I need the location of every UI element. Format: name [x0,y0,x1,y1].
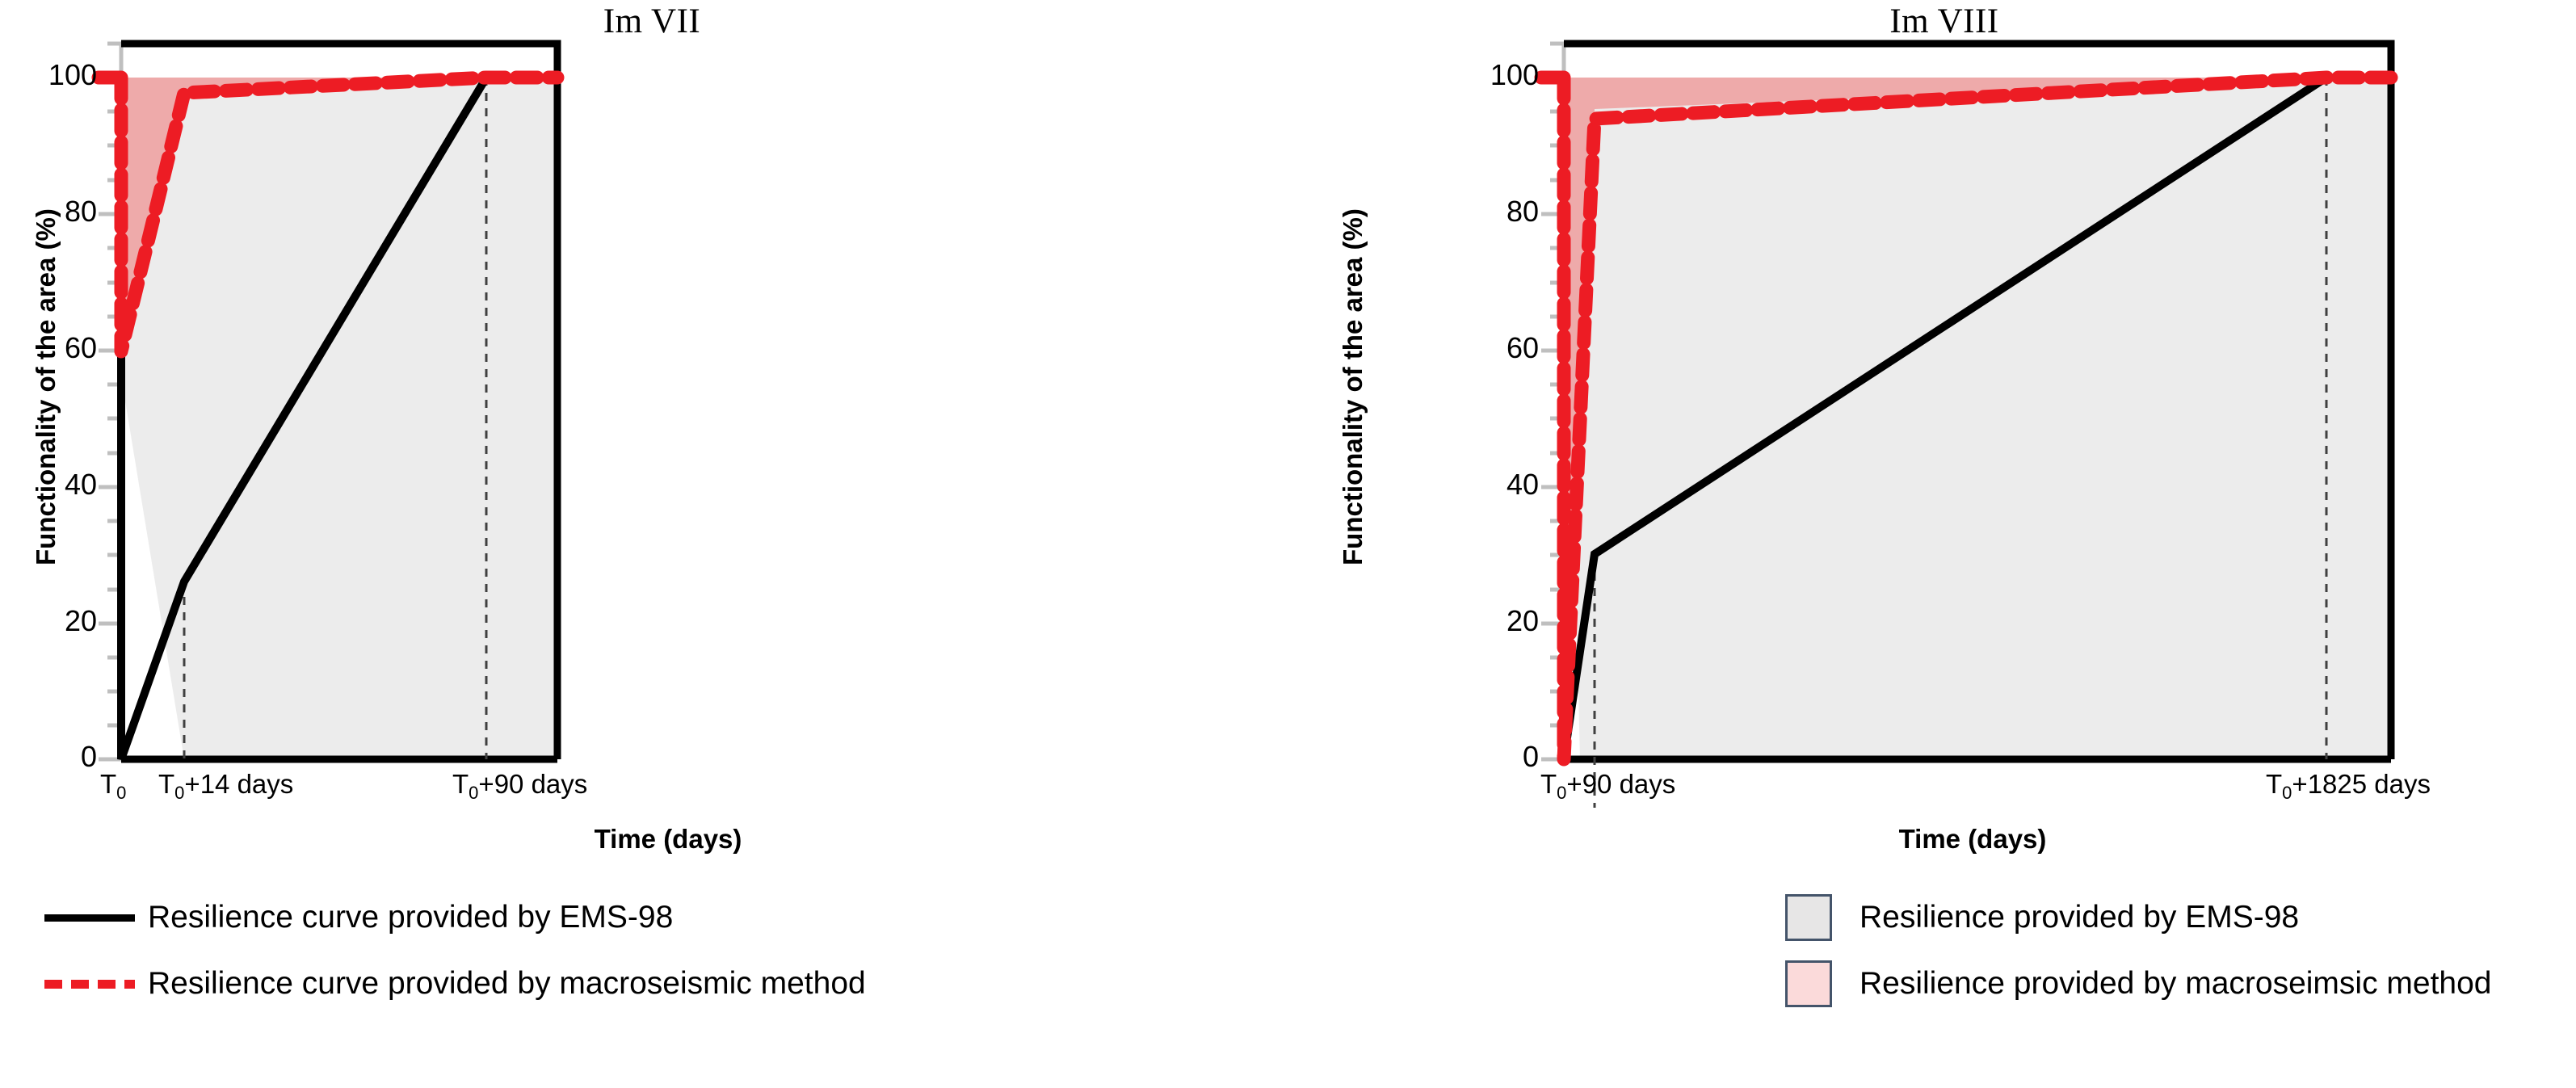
x-tick-t0-plus-90: T0+90 days [1540,769,1675,800]
legend-label-macroseismic-area: Resilience provided by macroseimsic meth… [1860,966,2492,1002]
y-tick-40: 40 [8,468,97,502]
x-axis-label-im-vii: Time (days) [0,824,1288,855]
shaded-area-ems98 [121,78,557,759]
legend-item-ems98-area: Resilience provided by EMS-98 [1288,884,2576,951]
x-tick-t0-plus-14-main: T [158,769,174,799]
panel-im-vii: Im VII [0,0,1288,1088]
x-tick-t0-plus-14-sub: 0 [174,783,184,803]
x-tick-t0-main: T [100,769,116,799]
panel-im-viii: Im VIII [1288,0,2576,1088]
legend-label-macroseismic-line: Resilience curve provided by macroseismi… [148,966,866,1002]
x-tick-t0-plus-14-rest: +14 days [184,769,293,799]
x-tick-t0-plus-14: T0+14 days [158,769,293,800]
legend-item-macroseismic-area: Resilience provided by macroseimsic meth… [1288,951,2576,1017]
resilience-curves-figure: Im VII [0,0,2576,1088]
y-tick-80: 80 [8,195,97,229]
x-tick-t0-plus-90-sub: 0 [469,783,478,803]
y-tick-100: 100 [8,58,97,92]
y-axis-label-im-vii: Functionality of the area (%) [31,208,61,565]
y-tick-60: 60 [1450,331,1539,365]
x-tick-t0-plus-1825-sub: 0 [2282,783,2292,803]
plot-im-viii [1288,0,2576,856]
x-tick-t0: T0 [100,769,126,800]
legend-label-ems98-line: Resilience curve provided by EMS-98 [148,900,673,935]
y-tick-20: 20 [1450,604,1539,638]
y-tick-100: 100 [1450,58,1539,92]
solid-line-icon [44,914,135,922]
x-tick-t0-sub: 0 [116,783,126,803]
legend-label-ems98-area: Resilience provided by EMS-98 [1860,900,2299,935]
y-tick-20: 20 [8,604,97,638]
gray-swatch-icon [1785,894,1832,941]
y-tick-0: 0 [1450,740,1539,774]
legend-item-macroseismic-line: Resilience curve provided by macroseismi… [0,951,1288,1017]
x-tick-t0-plus-90-rest: +90 days [1566,769,1675,799]
legend-im-viii: Resilience provided by EMS-98 Resilience… [1288,884,2576,1017]
y-tick-80: 80 [1450,195,1539,229]
y-tick-40: 40 [1450,468,1539,502]
legend-im-vii: Resilience curve provided by EMS-98 Resi… [0,884,1288,1017]
x-tick-t0-plus-90-rest: +90 days [478,769,587,799]
x-tick-t0-plus-90-main: T [452,769,469,799]
y-tick-60: 60 [8,331,97,365]
pink-swatch-icon [1785,960,1832,1007]
y-tick-0: 0 [8,740,97,774]
shaded-area-ems98 [1564,78,2391,759]
dashed-line-icon [44,980,135,989]
x-tick-t0-plus-90-sub: 0 [1557,783,1566,803]
y-axis-label-im-viii: Functionality of the area (%) [1338,208,1368,565]
x-tick-t0-plus-90: T0+90 days [452,769,587,800]
x-tick-t0-plus-90-main: T [1540,769,1557,799]
x-tick-t0-plus-1825-rest: +1825 days [2292,769,2431,799]
legend-item-ems98-line: Resilience curve provided by EMS-98 [0,884,1288,951]
plot-im-vii [0,0,1288,856]
x-axis-label-im-viii: Time (days) [1288,824,2576,855]
x-tick-t0-plus-1825: T0+1825 days [2266,769,2431,800]
x-tick-t0-plus-1825-main: T [2266,769,2282,799]
